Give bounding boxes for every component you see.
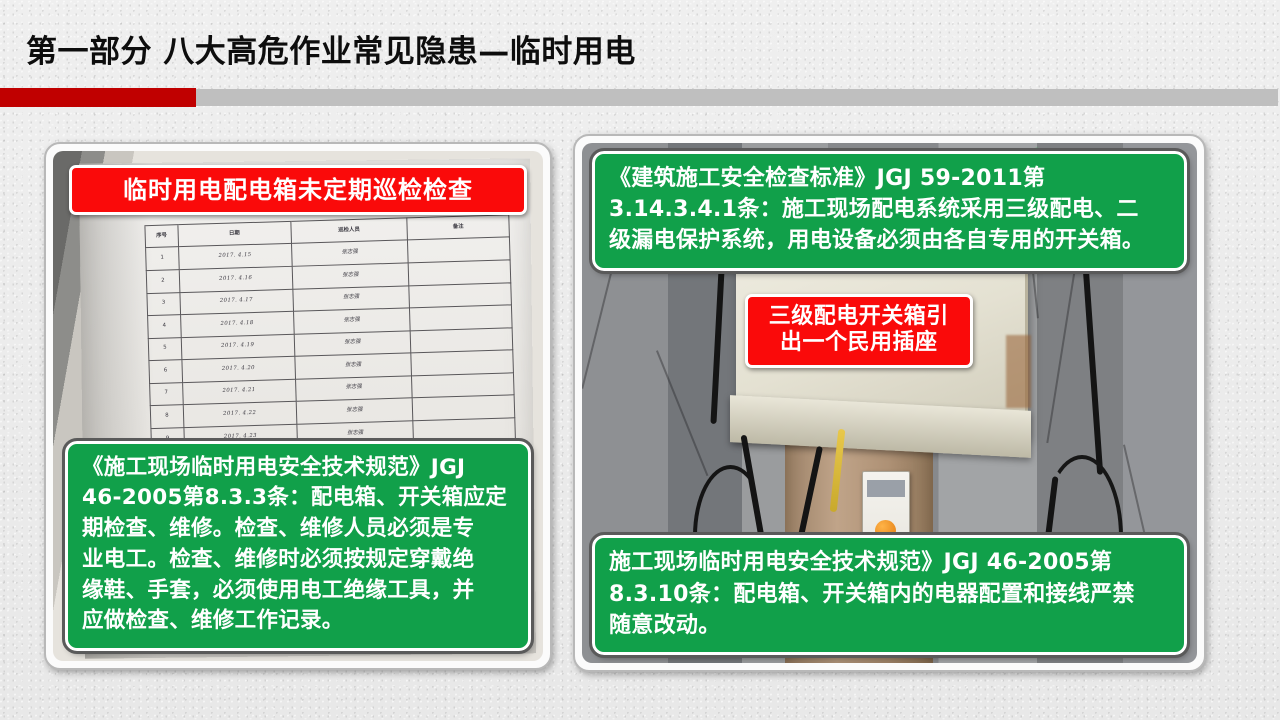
log-cell-no: 6 — [149, 359, 182, 382]
log-cell-no: 1 — [146, 247, 179, 270]
header-rule-gray-segment — [196, 89, 1278, 106]
log-cell-date: 2017. 4.18 — [180, 311, 293, 337]
left-note-line-3: 期检查、维修。检查、维修人员必须是专 — [82, 514, 514, 545]
log-header-date: 日期 — [178, 221, 291, 247]
log-cell-remark — [409, 282, 512, 308]
log-cell-inspector: 张志强 — [291, 240, 408, 266]
right-bottom-note-line-1: 施工现场临时用电安全技术规范》JGJ 46-2005第 — [609, 547, 1170, 578]
log-cell-inspector: 张志强 — [294, 330, 411, 356]
log-cell-date: 2017. 4.19 — [181, 334, 294, 360]
log-cell-inspector: 张志强 — [295, 375, 412, 401]
log-cell-date: 2017. 4.20 — [182, 356, 295, 382]
left-note-line-5: 缘鞋、手套，必须使用电工绝缘工具，并 — [82, 576, 514, 607]
left-note-line-6: 应做检查、维修工作记录。 — [82, 606, 514, 637]
header-rule-red-segment — [0, 88, 196, 107]
inspection-log-photo: 电工巡检记录 序号 日期 巡检人员 备注 12017. 4.15张志强22017… — [53, 151, 543, 661]
wall-crack-3 — [1046, 268, 1075, 443]
page-title: 第一部分 八大高危作业常见隐患—临时用电 — [26, 26, 636, 71]
log-header-no: 序号 — [145, 224, 178, 247]
switch-box-photo: 《建筑施工安全检查标准》JGJ 59-2011第 3.14.3.4.1条：施工现… — [582, 143, 1197, 663]
log-cell-date: 2017. 4.15 — [178, 244, 291, 270]
right-green-regulation-note-bottom: 施工现场临时用电安全技术规范》JGJ 46-2005第 8.3.10条：配电箱、… — [592, 535, 1187, 655]
log-header-remark: 备注 — [407, 215, 510, 241]
log-cell-no: 5 — [148, 337, 181, 360]
log-cell-date: 2017. 4.17 — [180, 289, 293, 315]
log-header-who: 巡检人员 — [290, 218, 407, 244]
right-bottom-note-line-2: 8.3.10条：配电箱、开关箱内的电器配置和接线严禁 — [609, 579, 1170, 610]
left-green-regulation-note: 《施工现场临时用电安全技术规范》JGJ 46-2005第8.3.3条：配电箱、开… — [65, 441, 531, 651]
log-cell-date: 2017. 4.21 — [182, 379, 295, 405]
log-cell-no: 8 — [150, 404, 183, 427]
right-bottom-note-line-3: 随意改动。 — [609, 610, 1170, 641]
log-cell-inspector: 张志强 — [292, 263, 409, 289]
log-cell-remark — [413, 417, 516, 443]
log-cell-remark — [411, 350, 514, 376]
left-content-panel: 电工巡检记录 序号 日期 巡检人员 备注 12017. 4.15张志强22017… — [44, 142, 552, 670]
right-green-standard-note-top: 《建筑施工安全检查标准》JGJ 59-2011第 3.14.3.4.1条：施工现… — [592, 151, 1187, 271]
socket-label-strip — [867, 480, 906, 497]
slide-root: 第一部分 八大高危作业常见隐患—临时用电 电工巡检记录 序号 日期 巡检人员 — [0, 0, 1280, 720]
left-note-line-2: 46-2005第8.3.3条：配电箱、开关箱应定 — [82, 483, 514, 514]
right-callout-line-2: 出一个民用插座 — [754, 330, 964, 356]
right-red-callout: 三级配电开关箱引 出一个民用插座 — [745, 294, 973, 368]
log-cell-remark — [410, 305, 513, 331]
log-cell-remark — [408, 237, 511, 263]
log-cell-no: 7 — [150, 382, 183, 405]
log-cell-inspector: 张志强 — [292, 285, 409, 311]
log-cell-remark — [412, 372, 515, 398]
right-top-note-line-3: 级漏电保护系统，用电设备必须由各自专用的开关箱。 — [609, 225, 1170, 256]
header-rule — [0, 88, 1278, 107]
left-note-line-1: 《施工现场临时用电安全技术规范》JGJ — [82, 453, 514, 484]
right-callout-line-1: 三级配电开关箱引 — [754, 304, 964, 330]
log-cell-remark — [412, 395, 515, 421]
right-top-note-line-2: 3.14.3.4.1条：施工现场配电系统采用三级配电、二 — [609, 194, 1170, 225]
log-cell-inspector: 张志强 — [294, 353, 411, 379]
right-top-note-line-1: 《建筑施工安全检查标准》JGJ 59-2011第 — [609, 163, 1170, 194]
rust-stain — [1006, 335, 1031, 408]
left-note-line-4: 业电工。检查、维修时必须按规定穿戴绝 — [82, 545, 514, 576]
log-cell-no: 4 — [148, 314, 181, 337]
log-cell-no: 3 — [147, 292, 180, 315]
log-cell-remark — [408, 260, 511, 286]
log-cell-inspector: 张志强 — [296, 398, 413, 424]
log-cell-date: 2017. 4.22 — [183, 401, 296, 427]
wall-crack-2 — [656, 350, 708, 476]
log-cell-remark — [410, 327, 513, 353]
right-content-panel: 《建筑施工安全检查标准》JGJ 59-2011第 3.14.3.4.1条：施工现… — [573, 134, 1206, 672]
log-cell-no: 2 — [146, 269, 179, 292]
log-cell-date: 2017. 4.16 — [179, 266, 292, 292]
log-cell-inspector: 张志强 — [293, 308, 410, 334]
left-red-banner: 临时用电配电箱未定期巡检检查 — [69, 165, 527, 215]
